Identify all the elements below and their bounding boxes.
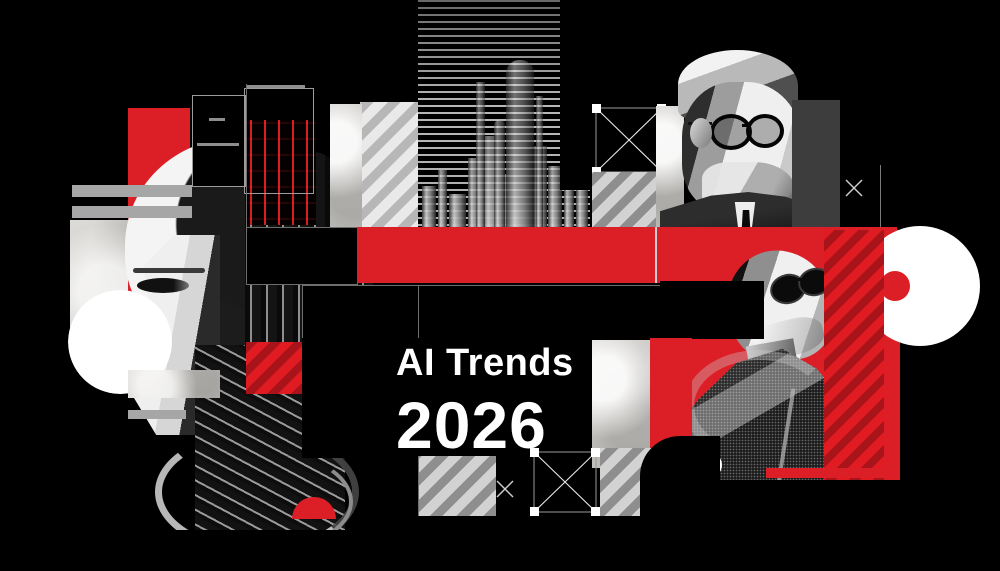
concrete-panel-lower-left [128,370,220,398]
title-line-primary: AI Trends [396,344,574,382]
dark-panel-topright [792,100,840,230]
hairline-vertical-center [418,456,419,516]
black-band-center-left [246,227,358,285]
gray-bar-upper [72,185,192,197]
title-line-year: 2026 [396,392,574,458]
outline-box-b [244,88,314,194]
red-bar-bottom-right [766,468,884,478]
top-rule-line [247,85,305,88]
gray-bar-bottom-left [128,410,186,419]
outline-box-a [192,95,246,187]
red-stripe-overlay-right [824,230,884,480]
red-dot-center-right [880,271,910,301]
gray-bar-lower [72,206,192,218]
poster-canvas: AI Trends 2026 [0,0,1000,571]
gray-stripe-panel-topright [592,172,656,230]
black-overlay-box-right [660,281,764,339]
black-band-divider [418,286,419,340]
poster-title: AI Trends 2026 [396,344,574,458]
concrete-panel-top [330,104,362,232]
hairline-vertical-left [246,84,247,232]
red-band-divider [655,227,657,283]
black-quarter-circle-bottom [640,436,720,516]
dash-mark-a [209,118,225,121]
dash-mark-b [197,143,239,146]
gray-stripe-panel-bottom [418,456,496,516]
x-mark-right [844,178,864,198]
x-mark-bottom [494,478,516,500]
